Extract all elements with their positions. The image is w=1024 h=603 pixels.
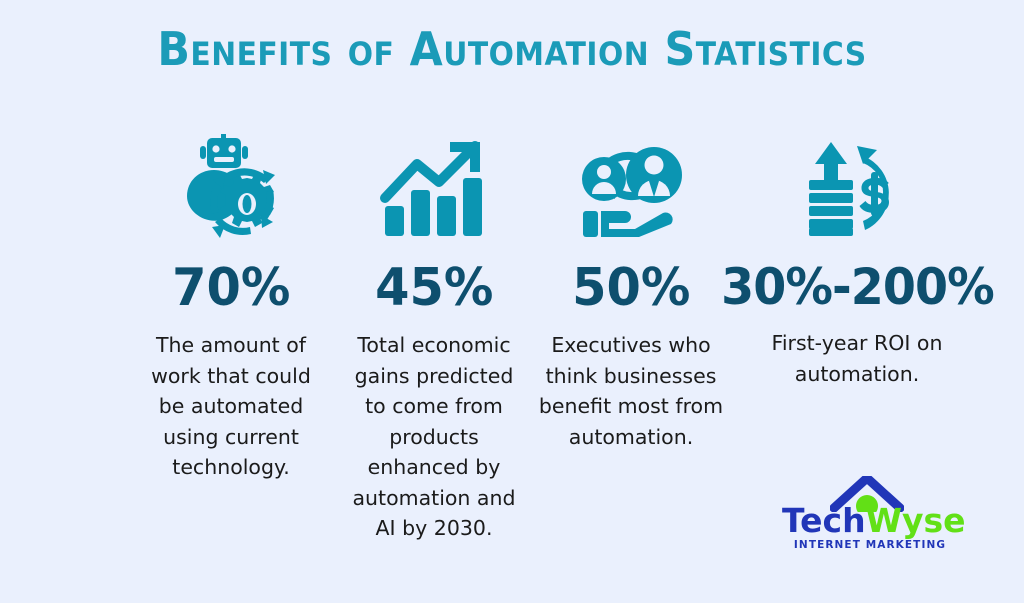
logo-word-tech: Tech [782, 501, 866, 540]
robot-automation-gear-icon [167, 132, 295, 244]
stat-description: First-year ROI on automation. [757, 328, 957, 389]
stat-value: 45% [375, 262, 493, 314]
coin-stack-dollar-roi-icon [805, 132, 909, 244]
stat-card-3: 50% Executives who think businesses bene… [532, 132, 730, 452]
stat-value: 50% [572, 262, 690, 314]
page-title: Benefits of Automation Statistics [36, 22, 988, 77]
logo-tagline: INTERNET MARKETING [782, 539, 958, 551]
logo-word-wyse: Wyse [866, 501, 966, 540]
stat-value: 30%-200% [721, 262, 994, 312]
stat-description: The amount of work that could be automat… [143, 330, 319, 483]
logo-wordmark: TechWyse [782, 504, 958, 537]
people-exchange-hand-icon [575, 132, 687, 244]
growth-bar-chart-arrow-icon [379, 132, 489, 244]
infographic-canvas: Benefits of Automation Statistics [0, 0, 1024, 603]
stat-value: 70% [172, 262, 290, 314]
techwyse-logo[interactable]: TechWyse INTERNET MARKETING [782, 476, 958, 560]
stat-card-4: 30%-200% First-year ROI on automation. [730, 132, 984, 389]
stat-card-2: 45% Total economic gains predicted to co… [336, 132, 532, 544]
stat-description: Executives who think businesses benefit … [538, 330, 724, 452]
stat-card-1: 70% The amount of work that could be aut… [126, 132, 336, 483]
stat-description: Total economic gains predicted to come f… [346, 330, 522, 544]
